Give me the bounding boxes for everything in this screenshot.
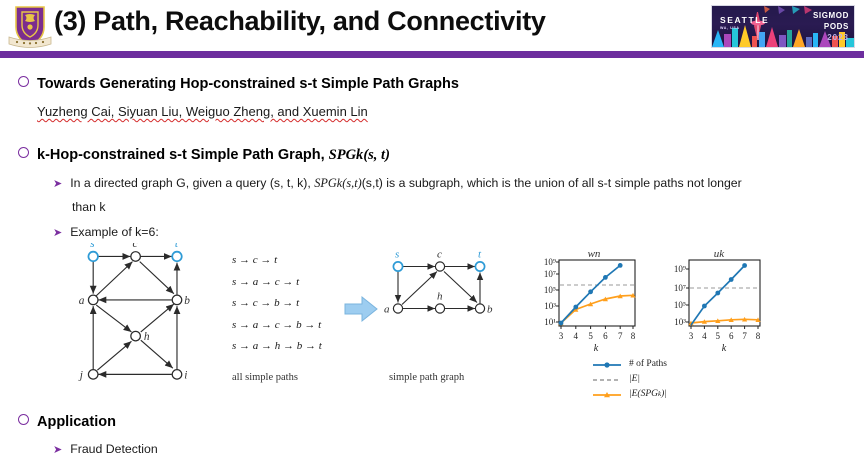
graph-node-label-s: s	[90, 243, 95, 250]
arrow-bullet-icon: ➤	[53, 178, 62, 190]
conference-city: SEATTLE	[720, 15, 769, 25]
chart-uk-xtick: 7	[742, 331, 747, 341]
conference-name-pods: PODS	[824, 22, 849, 31]
bullet-spg-suffix: (s, t)	[363, 147, 390, 163]
circle-bullet-icon	[18, 147, 29, 158]
figure-spg-graph: s c t a h b	[380, 248, 510, 338]
legend-item-espg: |E(SPGk)|	[592, 386, 667, 401]
cuhk-logo	[6, 3, 54, 49]
chart-uk-ytick: 10⁷	[674, 283, 686, 293]
chart-wn-ytick: 10⁹	[544, 257, 556, 267]
bullet-spg-prefix: k-Hop-constrained s-t Simple Path Graph,	[37, 147, 329, 163]
bullet-paper-title: Towards Generating Hop-constrained s-t S…	[18, 76, 459, 92]
chart-wn-title: wn	[588, 248, 601, 260]
figure-area: s c t a b h j i s → c → t s → a → c → t …	[0, 243, 864, 401]
graph-node-label-b: b	[184, 295, 190, 307]
bullet-spg-math: SPGk	[329, 147, 364, 163]
path-item: s → c → b → t	[232, 293, 322, 315]
chart-uk-xtick: 4	[702, 331, 707, 341]
spg-node-label-b: b	[487, 304, 493, 316]
legend-key-paths	[592, 358, 622, 370]
conference-name-sigmod: SIGMOD	[813, 11, 849, 20]
graph-node-label-a: a	[79, 295, 85, 307]
chart-uk-ytick: 10³	[674, 317, 686, 327]
sub-bullet-definition-wrap-label: than k	[72, 200, 106, 214]
chart-wn-xtick: 3	[559, 331, 564, 341]
chart-wn-series-paths-line	[561, 265, 620, 323]
sigmod-pods-logo: SEATTLE WA, USA SIGMOD PODS 2023	[711, 5, 855, 48]
authors-label: Yuzheng Cai, Siyuan Liu, Weiguo Zheng, a…	[37, 104, 368, 119]
chart-uk-ytick: 10⁹	[674, 264, 686, 274]
authors-line: Yuzheng Cai, Siyuan Liu, Weiguo Zheng, a…	[37, 104, 368, 119]
sub-bullet-definition: ➤In a directed graph G, given a query (s…	[53, 176, 853, 191]
header-divider	[0, 51, 864, 58]
conference-year: 2023	[827, 33, 849, 42]
chart-wn-xtick: 5	[588, 331, 593, 341]
chart-wn-xlabel: k	[594, 343, 599, 354]
chart-uk-xtick: 3	[689, 331, 694, 341]
chart-uk-xtick: 8	[756, 331, 761, 341]
path-list: s → c → t s → a → c → t s → c → b → t s …	[232, 250, 322, 358]
slide-header: (3) Path, Reachability, and Connectivity	[0, 0, 864, 58]
spg-node-label-t: t	[478, 249, 482, 261]
figure-full-graph: s c t a b h j i	[60, 243, 205, 393]
chart-wn-xtick: 7	[618, 331, 623, 341]
right-arrow-icon	[344, 295, 378, 323]
chart-wn-xtick: 4	[574, 331, 579, 341]
sub-bullet-definition-a: In a directed graph G, given a query (s,…	[70, 176, 314, 190]
legend-item-paths: # of Paths	[592, 356, 667, 371]
spg-node-label-h: h	[437, 291, 443, 303]
chart-uk-ytick: 10⁵	[674, 300, 686, 310]
chart-uk-xtick: 5	[716, 331, 721, 341]
chart-wn: wn 10¹ 10³ 10⁵ 10⁷ 10⁹ 3 4 5 6 7 8	[516, 246, 641, 354]
bullet-application: Application	[18, 414, 116, 430]
bullet-application-label: Application	[37, 414, 116, 430]
chart-uk: uk 10³ 10⁵ 10⁷ 10⁹ 3 4 5 6 7 8 k	[641, 246, 766, 354]
path-item: s → a → c → t	[232, 272, 322, 294]
chart-wn-xtick: 8	[631, 331, 636, 341]
sub-bullet-example: ➤Example of k=6:	[53, 225, 159, 239]
sub-bullet-definition-wrap: than k	[72, 200, 106, 214]
legend-key-edges	[592, 373, 622, 385]
arrow-bullet-icon: ➤	[53, 227, 62, 239]
path-item: s → c → t	[232, 250, 322, 272]
spg-node-label-s: s	[395, 249, 399, 261]
legend-label-paths: # of Paths	[629, 359, 667, 369]
legend-key-espg	[592, 388, 622, 400]
graph-node-label-c: c	[133, 243, 138, 250]
chart-wn-xtick: 6	[603, 331, 608, 341]
path-item: s → a → c → b → t	[232, 315, 322, 337]
chart-wn-ytick: 10⁷	[544, 269, 556, 279]
caption-all-simple-paths: all simple paths	[232, 372, 298, 383]
spg-node-label-a: a	[384, 304, 390, 316]
sub-bullet-definition-math: SPGk	[314, 176, 342, 190]
graph-node-label-t: t	[175, 243, 179, 250]
legend-item-edges: |E|	[592, 371, 667, 386]
path-item: s → a → h → b → t	[232, 336, 322, 358]
chart-uk-title: uk	[714, 248, 726, 260]
chart-wn-series-espg-markers	[558, 293, 635, 325]
bullet-paper-title-label: Towards Generating Hop-constrained s-t S…	[37, 76, 459, 92]
chart-legend: # of Paths |E| |E(SPGk)|	[592, 356, 667, 401]
chart-uk-series-espg-line	[691, 319, 758, 323]
graph-node-label-j: j	[78, 370, 83, 382]
graph-node-label-i: i	[184, 370, 187, 382]
sub-bullet-definition-args: (s,t)	[342, 176, 361, 190]
sub-bullet-definition-b: (s,t) is a subgraph, which is the union …	[362, 176, 742, 190]
sub-bullet-fraud-detection: ➤Fraud Detection	[53, 442, 158, 456]
bullet-spg-definition: k-Hop-constrained s-t Simple Path Graph,…	[18, 147, 390, 164]
legend-label-espg: |E(SPGk)|	[629, 389, 667, 399]
graph-node-label-h: h	[144, 331, 150, 343]
arrow-bullet-icon: ➤	[53, 444, 62, 456]
circle-bullet-icon	[18, 76, 29, 87]
chart-wn-ytick: 10⁵	[544, 285, 556, 295]
chart-wn-series-espg-line	[561, 295, 633, 323]
conference-city-sub: WA, USA	[720, 26, 740, 30]
sub-bullet-example-label: Example of k=6:	[70, 225, 159, 239]
spg-node-label-c: c	[437, 249, 442, 261]
chart-uk-xlabel: k	[722, 343, 727, 354]
chart-wn-ytick: 10¹	[544, 317, 556, 327]
chart-wn-ytick: 10³	[544, 301, 556, 311]
page-title: (3) Path, Reachability, and Connectivity	[54, 6, 546, 37]
chart-uk-xtick: 6	[729, 331, 734, 341]
caption-simple-path-graph: simple path graph	[389, 372, 464, 383]
circle-bullet-icon	[18, 414, 29, 425]
sub-bullet-fraud-detection-label: Fraud Detection	[70, 442, 158, 456]
legend-label-edges: |E|	[629, 374, 640, 384]
